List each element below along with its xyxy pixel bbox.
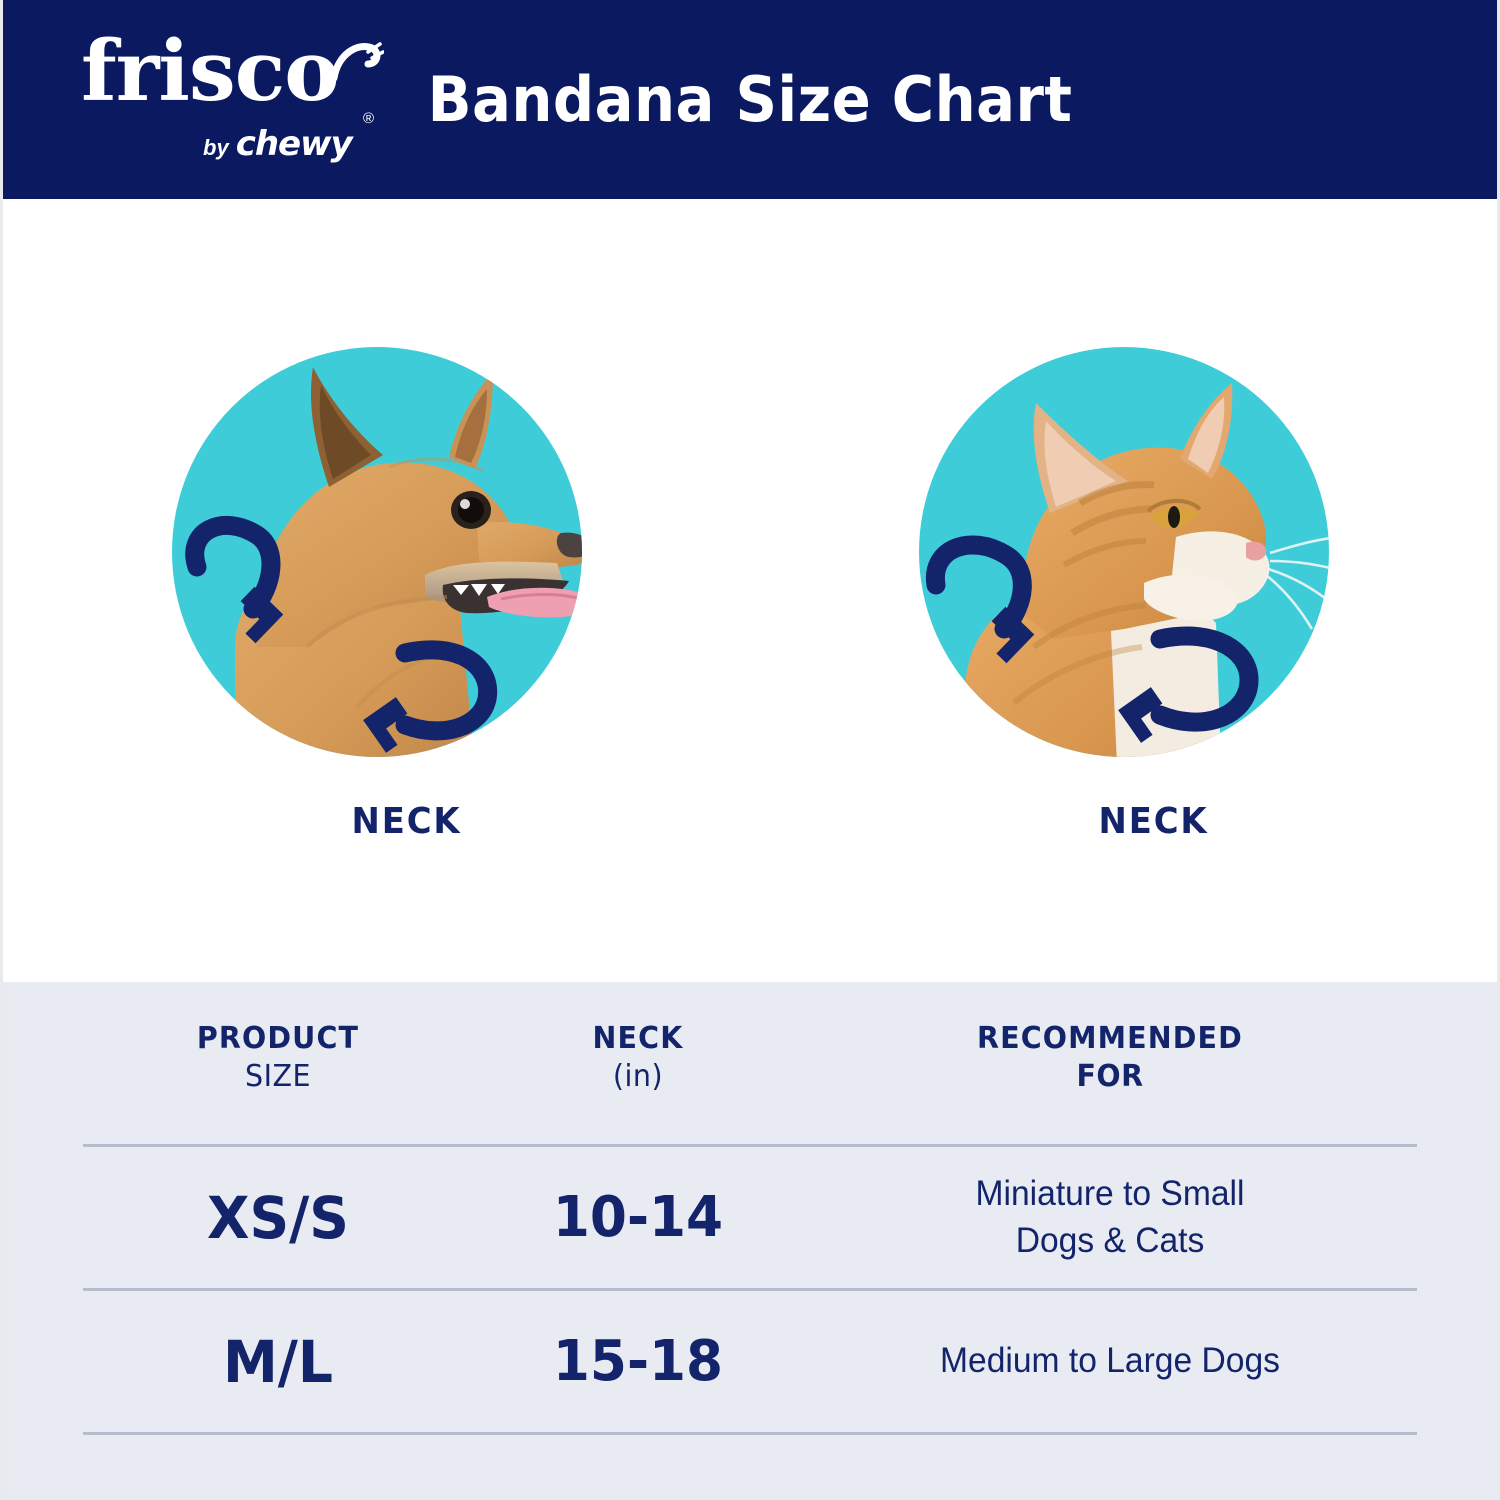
row-1-recommended-line1: Medium to Large Dogs bbox=[815, 1338, 1404, 1385]
dog-measure-illustration: NECK bbox=[3, 199, 750, 982]
neck-header-line1: NECK bbox=[593, 1021, 684, 1056]
recommended-header-line1: RECOMMENDED bbox=[977, 1021, 1243, 1056]
row-0-recommended: Miniature to Small Dogs & Cats bbox=[815, 1171, 1404, 1265]
table-header-row: PRODUCT SIZE NECK (in) RECOMMENDED FOR bbox=[83, 1020, 1417, 1144]
row-1-neck: 15-18 bbox=[481, 1329, 795, 1394]
table-divider-bottom bbox=[83, 1432, 1417, 1435]
row-0-neck: 10-14 bbox=[481, 1185, 795, 1250]
cat-neck-label: NECK bbox=[1098, 801, 1208, 842]
recommended-header-line2: FOR bbox=[818, 1058, 1401, 1096]
row-0-product-size: XS/S bbox=[93, 1184, 464, 1252]
cat-photo-icon bbox=[904, 347, 1344, 787]
row-0-recommended-line1: Miniature to Small bbox=[815, 1171, 1404, 1218]
table-divider-middle bbox=[83, 1288, 1417, 1291]
illustration-band: NECK bbox=[3, 199, 1497, 982]
row-1-product-size: M/L bbox=[93, 1328, 464, 1396]
product-size-header-line2: SIZE bbox=[93, 1058, 464, 1096]
cat-measure-illustration: NECK bbox=[750, 199, 1497, 982]
page-header: frisco ® by chewy Bandana Size Chart bbox=[3, 0, 1497, 199]
dog-photo-icon bbox=[157, 347, 597, 787]
dog-stage bbox=[157, 347, 597, 787]
cat-stage bbox=[904, 347, 1344, 787]
table-divider-top bbox=[83, 1144, 1417, 1147]
column-header-recommended-for: RECOMMENDED FOR bbox=[803, 1020, 1417, 1097]
page-title: Bandana Size Chart bbox=[55, 0, 1444, 199]
size-chart-page: frisco ® by chewy Bandana Size Chart bbox=[0, 0, 1500, 1500]
column-header-neck: NECK (in) bbox=[473, 1020, 803, 1097]
row-1-recommended: Medium to Large Dogs bbox=[815, 1338, 1404, 1385]
column-header-product-size: PRODUCT SIZE bbox=[83, 1020, 473, 1097]
size-table: PRODUCT SIZE NECK (in) RECOMMENDED FOR X… bbox=[3, 982, 1497, 1500]
table-row: XS/S 10-14 Miniature to Small Dogs & Cat… bbox=[83, 1147, 1417, 1288]
neck-header-unit: (in) bbox=[481, 1058, 795, 1096]
row-0-recommended-line2: Dogs & Cats bbox=[815, 1218, 1404, 1265]
product-size-header-line1: PRODUCT bbox=[197, 1021, 359, 1056]
table-row: M/L 15-18 Medium to Large Dogs bbox=[83, 1291, 1417, 1432]
dog-neck-label: NECK bbox=[351, 801, 461, 842]
